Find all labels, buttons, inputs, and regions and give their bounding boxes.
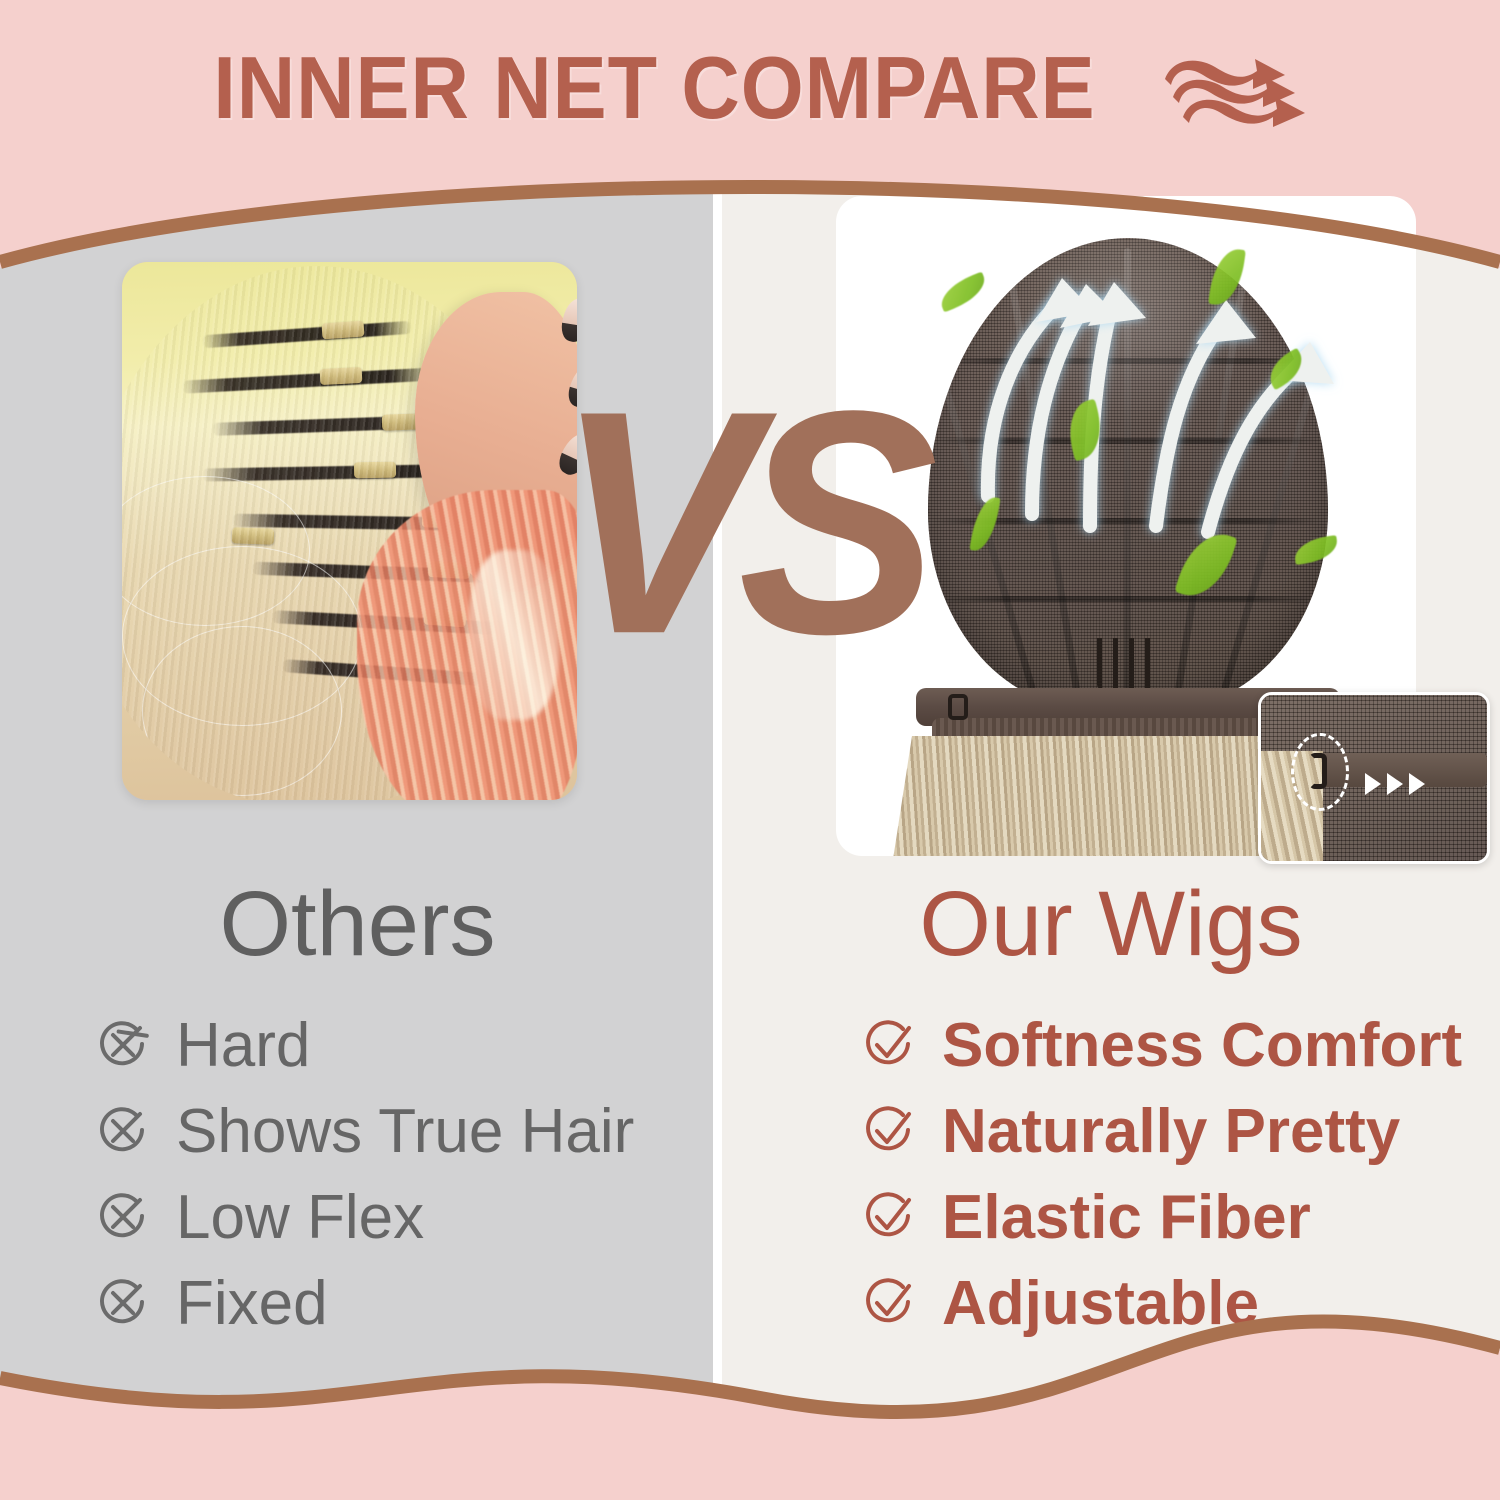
others-wig-inner-net-photo: [122, 262, 577, 800]
circle-x-icon: [96, 1104, 150, 1158]
hair-shine: [469, 550, 559, 720]
list-item: Fixed: [96, 1260, 634, 1346]
circle-x-icon: [96, 1276, 150, 1330]
our-wigs-feature-list: Softness Comfort Naturally Pretty Elasti…: [862, 1002, 1462, 1346]
versus-label: VS: [556, 363, 920, 681]
list-item: Adjustable: [862, 1260, 1462, 1346]
list-item: Shows True Hair: [96, 1088, 634, 1174]
infographic-stage: VS Others Our Wigs Hard Shows True Hair: [0, 0, 1500, 1500]
feature-label: Naturally Pretty: [942, 1096, 1400, 1167]
others-feature-list: Hard Shows True Hair Low Flex: [96, 1002, 634, 1346]
circle-check-icon: [862, 1190, 916, 1244]
others-heading: Others: [0, 872, 715, 977]
list-item: Hard: [96, 1002, 634, 1088]
buckle-hook-icon: [1309, 753, 1327, 789]
feature-label: Elastic Fiber: [942, 1182, 1311, 1253]
feature-label: Fixed: [176, 1268, 328, 1339]
feature-label: Shows True Hair: [176, 1096, 634, 1167]
feature-label: Low Flex: [176, 1182, 424, 1253]
list-item: Naturally Pretty: [862, 1088, 1462, 1174]
circle-check-icon: [862, 1018, 916, 1072]
feature-label: Hard: [176, 1010, 310, 1081]
list-item: Low Flex: [96, 1174, 634, 1260]
feature-label: Adjustable: [942, 1268, 1259, 1339]
circle-check-icon: [862, 1276, 916, 1330]
direction-arrows-icon: [1365, 773, 1425, 795]
adjustable-strap-detail-inset: [1258, 692, 1490, 864]
circle-check-icon: [862, 1104, 916, 1158]
feature-label: Softness Comfort: [942, 1010, 1462, 1081]
strap-buckle: [948, 694, 968, 720]
page-title: INNER NET COMPARE: [213, 37, 1095, 139]
list-item: Softness Comfort: [862, 1002, 1462, 1088]
header: INNER NET COMPARE: [0, 0, 1500, 175]
airflow-waves-icon: [1159, 45, 1309, 135]
circle-x-icon: [96, 1190, 150, 1244]
circle-x-icon: [96, 1018, 150, 1072]
our-wigs-heading: Our Wigs: [722, 872, 1500, 977]
list-item: Elastic Fiber: [862, 1174, 1462, 1260]
